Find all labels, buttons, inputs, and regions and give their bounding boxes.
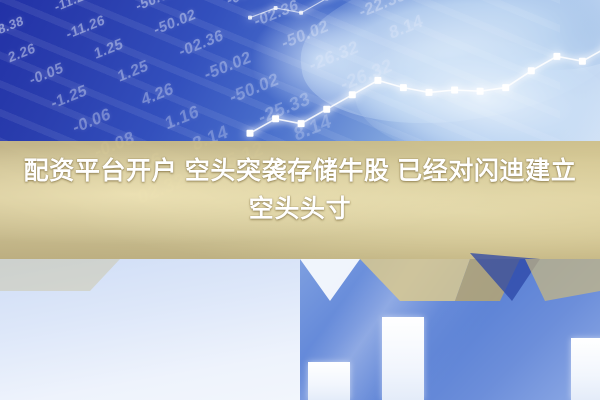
headline-line-2: 空头头寸 — [0, 190, 600, 228]
chart-node-marker — [349, 91, 356, 98]
page-title: 配资平台开户 空头突袭存储牛股 已经对闪迪建立 空头头寸 — [0, 152, 600, 228]
chart-node-marker — [553, 53, 560, 60]
chart-node-marker — [247, 130, 254, 137]
chart-series-line — [250, 0, 600, 18]
banner-image: -50.02-02.3621.16-08.05-02.3545.02-08.38… — [0, 0, 600, 400]
chart-node-marker — [477, 88, 484, 95]
chart-node-marker — [528, 67, 535, 74]
chart-node-marker — [298, 120, 305, 127]
chart-node-marker — [426, 89, 433, 96]
chart-node-marker — [579, 58, 586, 65]
chart-node-marker — [451, 87, 458, 94]
chart-node-marker — [400, 84, 407, 91]
chart-node-marker — [374, 77, 381, 84]
chart-bar — [308, 362, 350, 400]
chart-node-marker — [299, 11, 303, 15]
chart-node-marker — [248, 16, 252, 20]
chart-bar — [382, 317, 424, 400]
headline-line-1: 配资平台开户 空头突袭存储牛股 已经对闪迪建立 — [24, 157, 577, 185]
chart-bar — [571, 338, 600, 400]
chart-node-marker — [502, 84, 509, 91]
chart-node-marker — [323, 106, 330, 113]
chart-node-marker — [272, 115, 279, 122]
chart-node-marker — [274, 6, 278, 10]
